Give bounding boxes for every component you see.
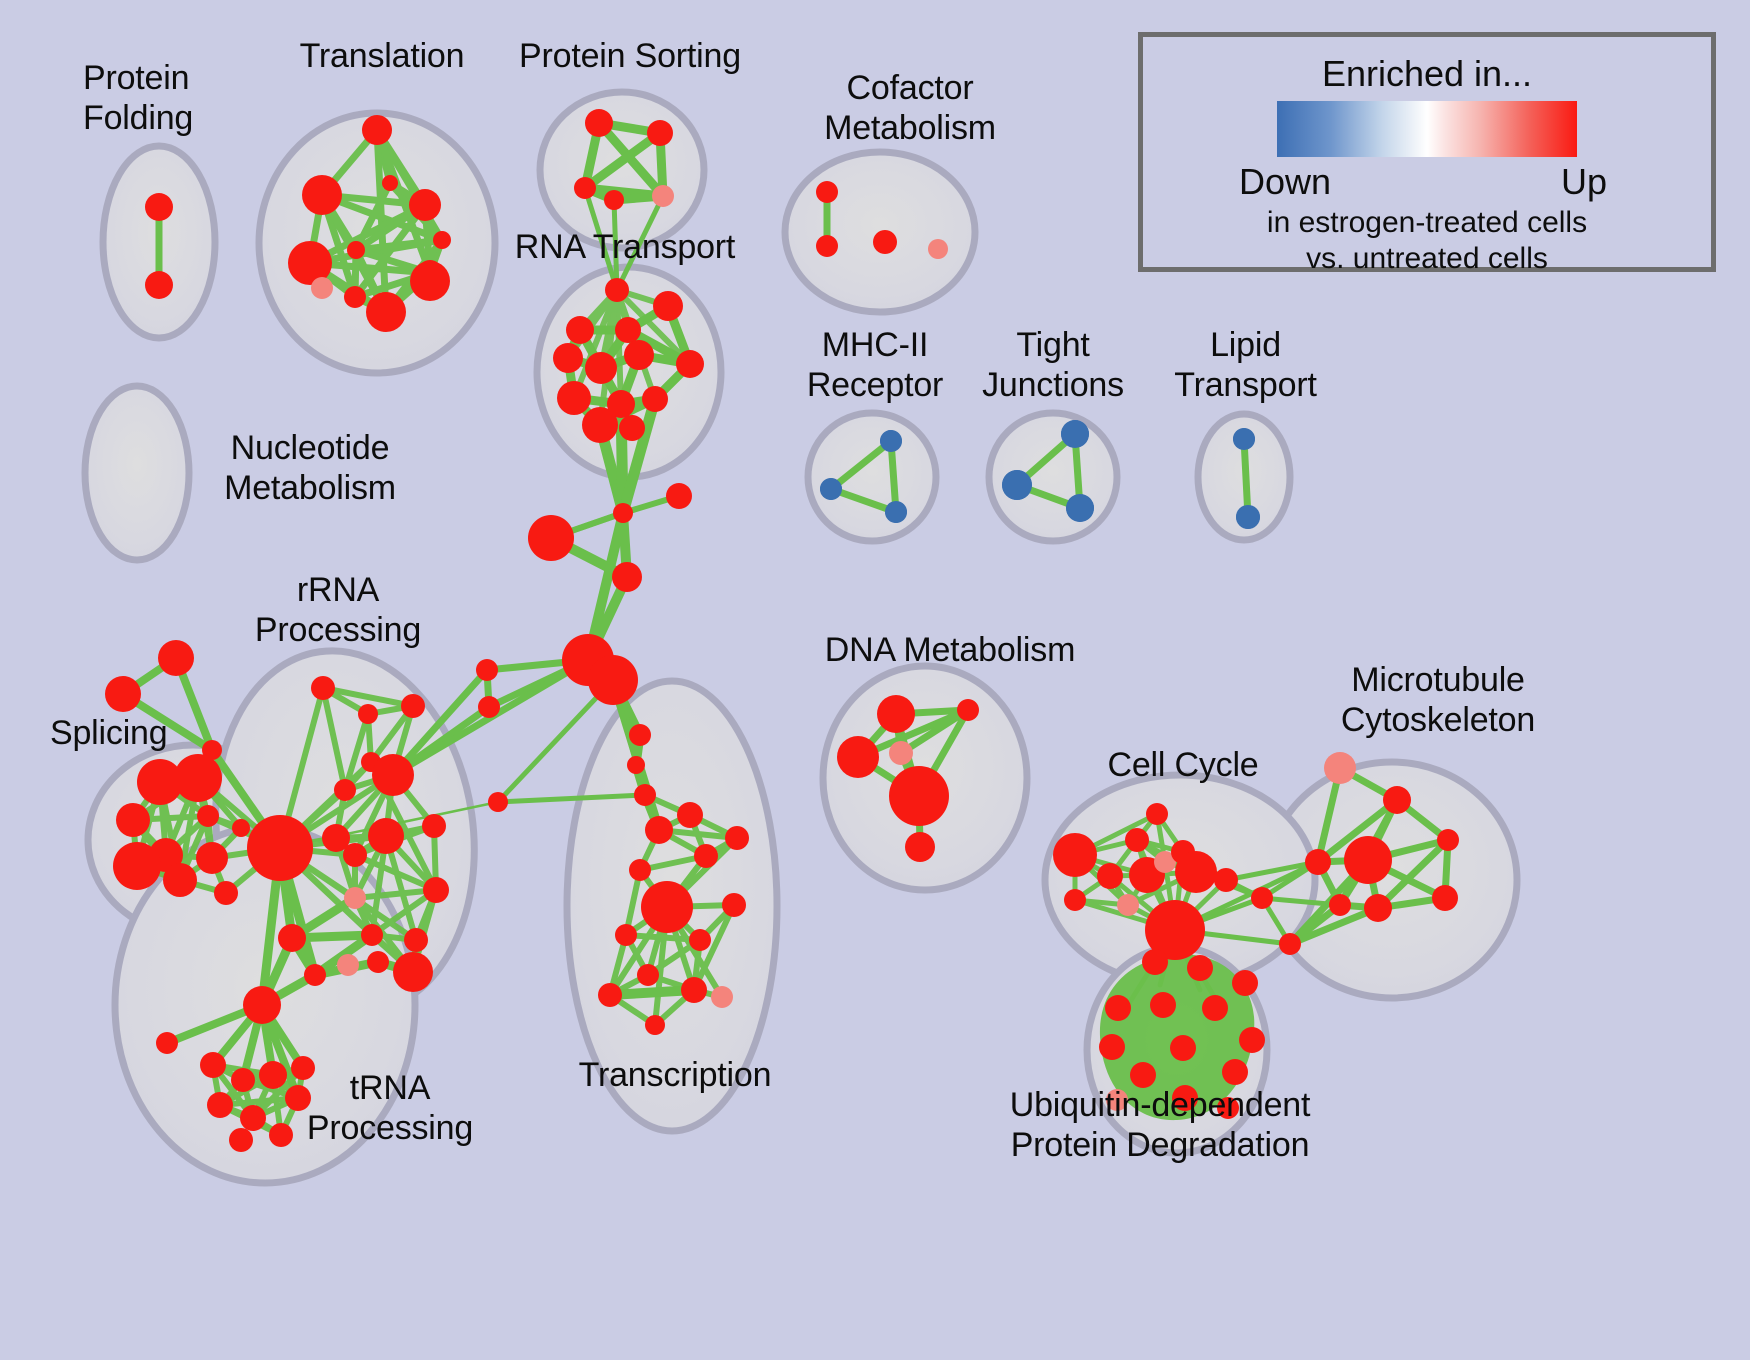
cluster-label-trna-processing: tRNA Processing [280,1068,500,1148]
cluster-label-cell-cycle: Cell Cycle [1068,745,1298,785]
cluster-label-mhc-ii-receptor: MHC-II Receptor [790,325,960,405]
cluster-label-rna-transport: RNA Transport [495,227,755,267]
legend-box: Enriched in... Down Up in estrogen-treat… [1138,32,1716,272]
legend-high-label: Up [1561,161,1607,203]
hull-mhc [808,413,936,541]
cluster-label-tight-junctions: Tight Junctions [968,325,1138,405]
enrichment-map-figure: Protein Folding Translation Protein Sort… [0,0,1750,1360]
hull-protein-sorting [540,92,704,248]
cluster-label-protein-sorting: Protein Sorting [500,36,760,76]
cluster-label-splicing: Splicing [50,713,240,753]
cluster-label-dna-metabolism: DNA Metabolism [800,630,1100,670]
cluster-label-transcription: Transcription [545,1055,805,1095]
cluster-label-cofactor-metabolism: Cofactor Metabolism [790,68,1030,148]
cluster-label-microtubule-cytoskeleton: Microtubule Cytoskeleton [1288,660,1588,740]
cluster-label-translation: Translation [272,36,492,76]
cluster-label-lipid-transport: Lipid Transport [1158,325,1333,405]
cluster-label-rrna-processing: rRNA Processing [228,570,448,650]
legend-subtitle: in estrogen-treated cells vs. untreated … [1143,205,1711,277]
cluster-label-protein-folding: Protein Folding [83,58,283,138]
hull-nucleotide [85,386,189,560]
cluster-label-nucleotide-metabolism: Nucleotide Metabolism [190,428,430,508]
legend-title: Enriched in... [1143,53,1711,95]
cluster-label-ubiquitin-degradation: Ubiquitin-dependent Protein Degradation [940,1085,1380,1165]
legend-low-label: Down [1239,161,1331,203]
legend-color-gradient-bar [1277,101,1577,157]
